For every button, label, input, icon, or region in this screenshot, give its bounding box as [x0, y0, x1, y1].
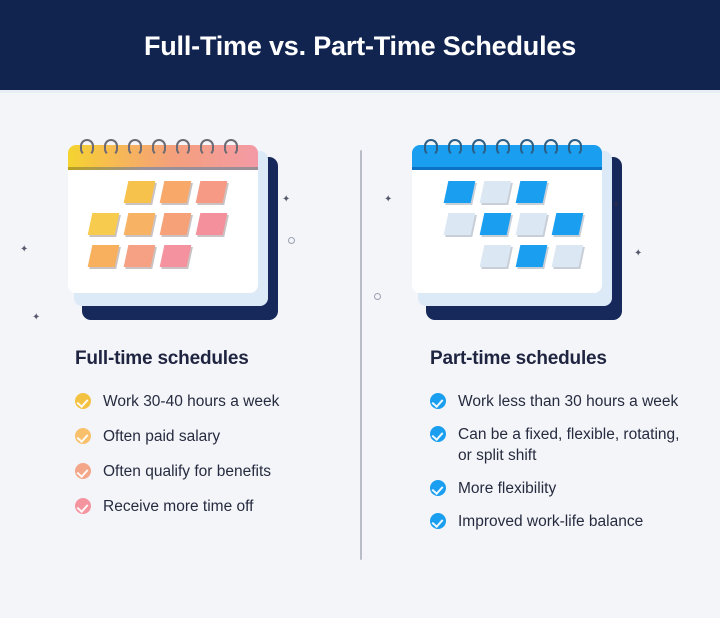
sparkle-icon: ✦: [20, 245, 28, 255]
spiral-ring-icon: [128, 139, 142, 156]
spiral-ring-icon: [520, 139, 534, 156]
spiral-ring-icon: [472, 139, 486, 156]
calendar-day-block: [160, 245, 192, 267]
calendar-header-rule: [412, 167, 602, 170]
calendar-day-block: [444, 213, 476, 235]
sparkle-icon: ✦: [612, 201, 620, 211]
check-circle-icon: [75, 428, 91, 444]
calendar-day-block: [552, 213, 584, 235]
part-time-calendar-illustration: ✦ ✦ ✦: [412, 145, 622, 320]
sparkle-icon: ✦: [384, 195, 392, 205]
calendar-day-block: [516, 213, 548, 235]
calendar-day-block: [160, 213, 192, 235]
check-circle-icon: [430, 393, 446, 409]
sparkle-icon: ✦: [282, 195, 290, 205]
spiral-ring-icon: [200, 139, 214, 156]
header-banner: Full-Time vs. Part-Time Schedules: [0, 0, 720, 92]
check-circle-icon: [430, 426, 446, 442]
list-item: Work 30-40 hours a week: [75, 391, 337, 412]
column-full-time: ✦ ✦ ✦ Full-time schedules Work 30-40 hou…: [0, 93, 360, 618]
calendar-day-block: [124, 213, 156, 235]
spiral-ring-icon: [152, 139, 166, 156]
spiral-ring-icon: [80, 139, 94, 156]
part-time-bullet-list: Work less than 30 hours a week Can be a …: [430, 391, 688, 544]
column-part-time: ✦ ✦ ✦ Part-time schedules Work less than…: [360, 93, 720, 618]
spiral-ring-icon: [176, 139, 190, 156]
calendar-day-block: [88, 213, 120, 235]
spiral-ring-icon: [224, 139, 238, 156]
list-item-label: Work less than 30 hours a week: [458, 393, 678, 410]
sparkle-icon: ✦: [32, 313, 40, 323]
calendar-header-rule: [68, 167, 258, 170]
list-item: Work less than 30 hours a week: [430, 391, 688, 412]
calendar-spiral-rings: [412, 139, 602, 161]
calendar-day-block: [124, 245, 156, 267]
check-circle-icon: [75, 393, 91, 409]
check-circle-icon: [430, 480, 446, 496]
infographic-root: Full-Time vs. Part-Time Schedules: [0, 0, 720, 618]
spiral-ring-icon: [424, 139, 438, 156]
calendar-day-block: [444, 181, 476, 203]
calendar-day-block: [196, 181, 228, 203]
list-item: Receive more time off: [75, 496, 337, 517]
list-item-label: Work 30-40 hours a week: [103, 393, 279, 410]
full-time-heading: Full-time schedules: [75, 348, 249, 370]
dot-circle-icon: [288, 237, 295, 244]
list-item-label: More flexibility: [458, 480, 556, 497]
sparkle-icon: ✦: [634, 249, 642, 259]
list-item-label: Often qualify for benefits: [103, 463, 271, 480]
list-item-label: Improved work-life balance: [458, 513, 643, 530]
calendar-card: [412, 145, 602, 293]
list-item-label: Can be a fixed, flexible, rotating, or s…: [458, 426, 679, 464]
list-item: Often paid salary: [75, 426, 337, 447]
calendar-day-block: [480, 181, 512, 203]
list-item: Can be a fixed, flexible, rotating, or s…: [430, 424, 688, 466]
calendar-day-block: [160, 181, 192, 203]
calendar-day-block: [516, 245, 548, 267]
calendar-spiral-rings: [68, 139, 258, 161]
full-time-calendar-illustration: ✦ ✦ ✦: [68, 145, 278, 320]
check-circle-icon: [75, 498, 91, 514]
calendar-day-block: [88, 245, 120, 267]
calendar-day-block: [552, 245, 584, 267]
spiral-ring-icon: [544, 139, 558, 156]
spiral-ring-icon: [568, 139, 582, 156]
calendar-day-block: [480, 213, 512, 235]
list-item-label: Receive more time off: [103, 498, 253, 515]
page-title: Full-Time vs. Part-Time Schedules: [144, 31, 576, 62]
dot-circle-icon: [374, 293, 381, 300]
calendar-day-block: [196, 213, 228, 235]
full-time-bullet-list: Work 30-40 hours a week Often paid salar…: [75, 391, 337, 531]
calendar-day-block: [480, 245, 512, 267]
calendar-day-block: [516, 181, 548, 203]
spiral-ring-icon: [496, 139, 510, 156]
check-circle-icon: [75, 463, 91, 479]
list-item: More flexibility: [430, 478, 688, 499]
calendar-day-block: [124, 181, 156, 203]
list-item: Improved work-life balance: [430, 511, 688, 532]
spiral-ring-icon: [104, 139, 118, 156]
calendar-card: [68, 145, 258, 293]
list-item: Often qualify for benefits: [75, 461, 337, 482]
part-time-heading: Part-time schedules: [430, 348, 607, 370]
list-item-label: Often paid salary: [103, 428, 220, 445]
spiral-ring-icon: [448, 139, 462, 156]
check-circle-icon: [430, 513, 446, 529]
